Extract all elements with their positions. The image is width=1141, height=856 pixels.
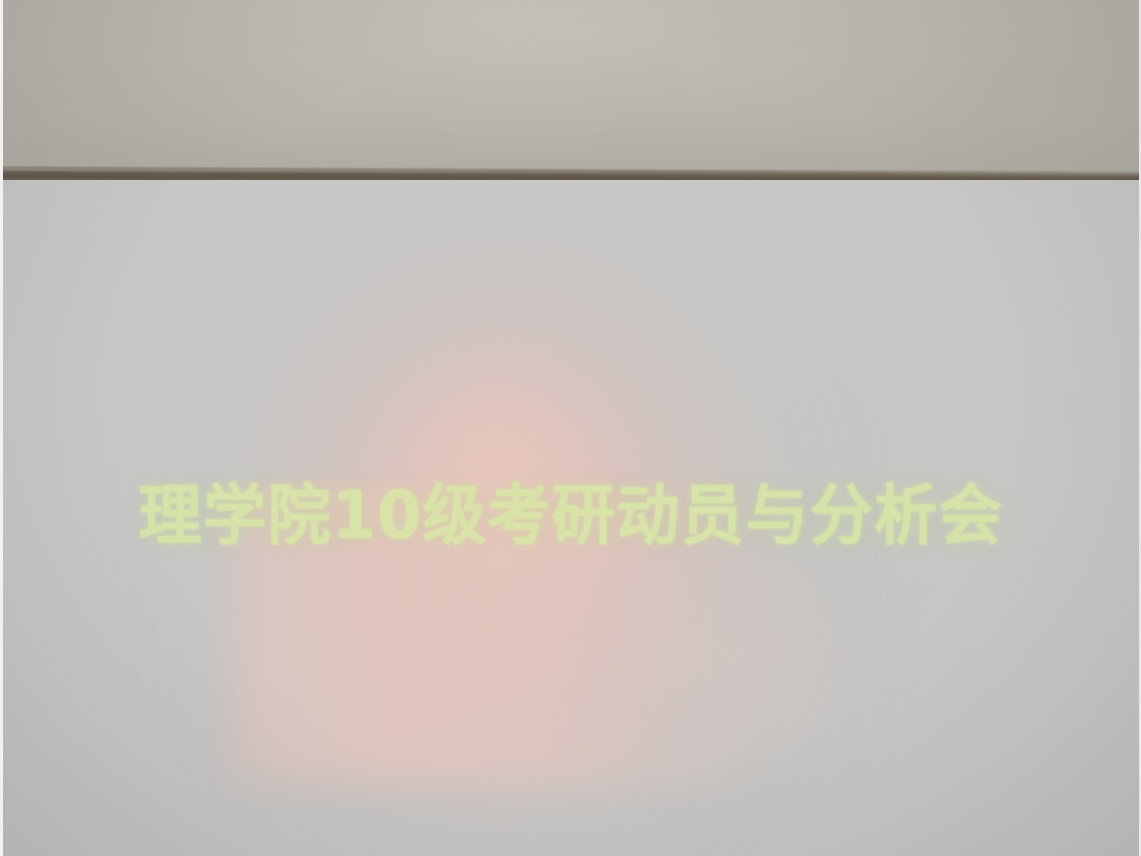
- wall-sheen: [3, 0, 1139, 172]
- photo-frame: 理学院10级考研动员与分析会: [0, 0, 1141, 856]
- upper-wall: [3, 0, 1139, 172]
- projection-screen: 理学院10级考研动员与分析会: [3, 180, 1139, 856]
- projector-glow-core: [333, 300, 663, 630]
- projector-glow-right: [643, 510, 903, 810]
